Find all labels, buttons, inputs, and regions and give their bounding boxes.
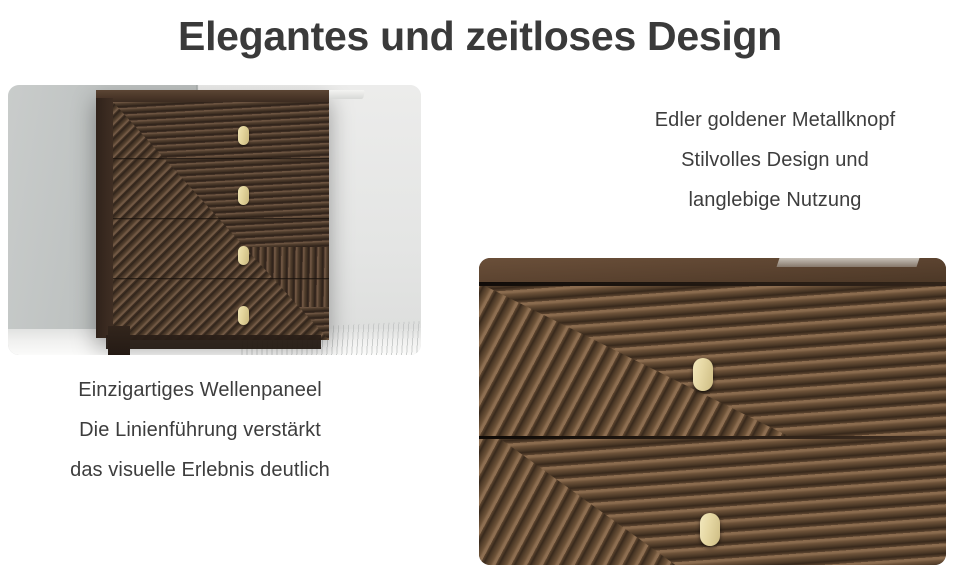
drawer-knob [693, 358, 713, 391]
drawer-upper [479, 286, 946, 436]
drawer-knob [238, 306, 249, 325]
page-title: Elegantes und zeitloses Design [0, 12, 960, 60]
drawer-knob [238, 246, 249, 265]
copy-line: Einzigartiges Wellenpaneel [0, 370, 400, 410]
drawer-lower [479, 439, 946, 565]
copy-line: das visuelle Erlebnis deutlich [0, 450, 400, 490]
copy-line: Die Linienführung verstärkt [0, 410, 400, 450]
drawer-knob [700, 513, 720, 546]
feature-text-panel: Einzigartiges Wellenpaneel Die Linienfüh… [0, 370, 400, 490]
dresser-cabinet [96, 90, 329, 338]
product-photo-room [8, 85, 421, 355]
drawer-knob [238, 126, 249, 145]
product-photo-detail [479, 258, 946, 565]
cabinet-left-side [96, 98, 113, 338]
cabinet-top-edge [479, 258, 946, 284]
drawer-knob [238, 186, 249, 205]
top-highlight [776, 258, 919, 267]
feature-text-knob: Edler goldener Metallknopf Stilvolles De… [590, 100, 960, 220]
cabinet-top-surface [96, 90, 329, 102]
drawer-seam [113, 218, 329, 220]
drawer-seam [113, 158, 329, 160]
copy-line: Stilvolles Design und [590, 140, 960, 180]
cabinet-leg [108, 326, 130, 355]
drawer-seam [113, 278, 329, 280]
copy-line: langlebige Nutzung [590, 180, 960, 220]
drawer-front-panel [113, 102, 329, 340]
copy-line: Edler goldener Metallknopf [590, 100, 960, 140]
cabinet-plinth [106, 335, 321, 349]
